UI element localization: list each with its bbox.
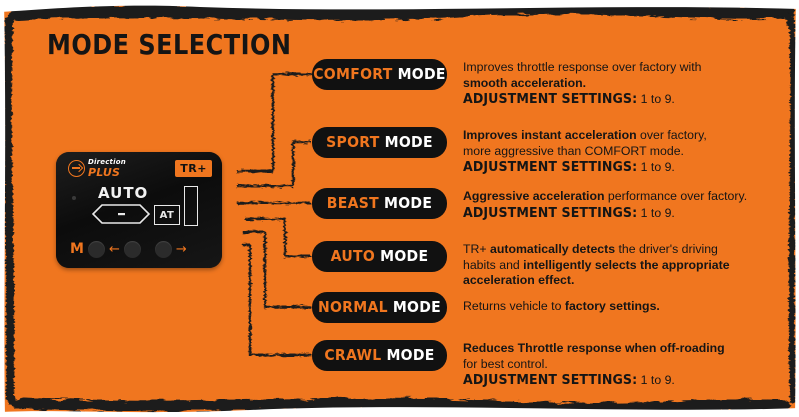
- display-level-bar: [184, 186, 198, 226]
- direction-plus-logo: Direction PLUS: [68, 159, 126, 178]
- mode-row-beast: BEAST MODE Aggressive acceleration perfo…: [312, 188, 782, 221]
- mode-row-sport: SPORT MODE Improves instant acceleration…: [312, 127, 782, 176]
- mode-pill-comfort[interactable]: COMFORT MODE: [312, 59, 447, 90]
- desc-line: Returns vehicle to: [463, 299, 565, 313]
- mode-pill-suffix: MODE: [385, 134, 433, 151]
- desc-line-bold: factory settings.: [565, 299, 660, 313]
- desc-line: Improves throttle response over factory …: [463, 60, 702, 76]
- desc-line: TR+: [463, 242, 490, 256]
- mode-pill-suffix: MODE: [386, 347, 434, 364]
- arrow-right-icon: →: [176, 243, 187, 256]
- desc-line: habits and: [463, 258, 523, 272]
- desc-line: performance over factory.: [605, 189, 748, 203]
- mode-description-beast: Aggressive acceleration performance over…: [463, 188, 747, 221]
- mode-description-normal: Returns vehicle to factory settings.: [463, 292, 660, 315]
- mode-pill-suffix: MODE: [384, 195, 432, 212]
- adjustment-settings-label: ADJUSTMENT SETTINGS:: [463, 372, 637, 388]
- desc-line-bold: Aggressive acceleration: [463, 189, 605, 203]
- adjustment-settings-label: ADJUSTMENT SETTINGS:: [463, 204, 637, 220]
- desc-line-bold: Improves instant acceleration: [463, 128, 637, 142]
- tr-plus-throttle-controller-device: Direction PLUS TR+ AUTO AT M ← →: [56, 152, 222, 268]
- mode-pill-name: AUTO: [331, 248, 375, 265]
- adjustment-settings-value: 1 to 9.: [637, 373, 675, 387]
- desc-line-bold: Reduces Throttle response when off-roadi…: [463, 341, 725, 355]
- increase-button-knob[interactable]: [155, 241, 172, 258]
- mode-pill-name: BEAST: [327, 195, 379, 212]
- arrow-circle-icon: [68, 160, 85, 177]
- mode-pill-name: CRAWL: [324, 347, 381, 364]
- mode-row-normal: NORMAL MODE Returns vehicle to factory s…: [312, 292, 782, 323]
- status-led-icon: [72, 196, 76, 200]
- brand-name-top: Direction: [88, 159, 126, 166]
- mode-pill-name: COMFORT: [313, 66, 392, 83]
- desc-line: for best control.: [463, 357, 725, 373]
- mode-button-label[interactable]: M: [70, 241, 84, 257]
- mode-row-crawl: CRAWL MODE Reduces Throttle response whe…: [312, 340, 782, 389]
- mode-row-comfort: COMFORT MODE Improves throttle response …: [312, 59, 782, 108]
- desc-line: more aggressive than COMFORT mode.: [463, 144, 707, 160]
- mode-pill-suffix: MODE: [380, 248, 428, 265]
- mode-description-crawl: Reduces Throttle response when off-roadi…: [463, 340, 725, 389]
- desc-line: the driver's driving: [615, 242, 718, 256]
- desc-line-bold: smooth acceleration.: [463, 76, 586, 90]
- mode-description-auto: TR+ automatically detects the driver's d…: [463, 241, 730, 289]
- adjustment-settings-label: ADJUSTMENT SETTINGS:: [463, 91, 637, 107]
- adjustment-settings-value: 1 to 9.: [637, 160, 675, 174]
- brand-name-bottom: PLUS: [88, 167, 126, 178]
- mode-pill-beast[interactable]: BEAST MODE: [312, 188, 447, 219]
- display-transmission-text: AT: [154, 205, 180, 225]
- adjustment-settings-label: ADJUSTMENT SETTINGS:: [463, 159, 637, 175]
- mode-pill-name: NORMAL: [318, 299, 388, 316]
- adjustment-settings-value: 1 to 9.: [637, 206, 675, 220]
- mode-pill-name: SPORT: [326, 134, 379, 151]
- mode-row-auto: AUTO MODE TR+ automatically detects the …: [312, 241, 782, 289]
- mode-pill-suffix: MODE: [393, 299, 441, 316]
- decrease-button-knob[interactable]: [124, 241, 141, 258]
- mode-description-comfort: Improves throttle response over factory …: [463, 59, 702, 108]
- arrow-left-icon: ←: [109, 243, 120, 256]
- level-indicator-icon: [92, 204, 150, 224]
- device-button-row: M ← →: [70, 237, 210, 261]
- mode-selection-poster: MODE SELECTION Direction PLUS TR+ AUTO A…: [0, 0, 799, 417]
- mode-pill-suffix: MODE: [398, 66, 446, 83]
- adjustment-settings-value: 1 to 9.: [637, 92, 675, 106]
- mode-pill-auto[interactable]: AUTO MODE: [312, 241, 447, 272]
- desc-line-bold: acceleration effect.: [463, 273, 574, 287]
- device-display: AUTO AT: [92, 184, 202, 228]
- mode-button-knob[interactable]: [88, 241, 105, 258]
- mode-description-sport: Improves instant acceleration over facto…: [463, 127, 707, 176]
- desc-line: over factory,: [637, 128, 707, 142]
- page-title: MODE SELECTION: [47, 28, 291, 60]
- tr-plus-badge: TR+: [175, 160, 212, 177]
- desc-line-bold: intelligently selects the appropriate: [523, 258, 729, 272]
- mode-pill-sport[interactable]: SPORT MODE: [312, 127, 447, 158]
- mode-pill-crawl[interactable]: CRAWL MODE: [312, 340, 447, 371]
- desc-line-bold: automatically detects: [490, 242, 615, 256]
- mode-pill-normal[interactable]: NORMAL MODE: [312, 292, 447, 323]
- display-mode-text: AUTO: [98, 184, 148, 202]
